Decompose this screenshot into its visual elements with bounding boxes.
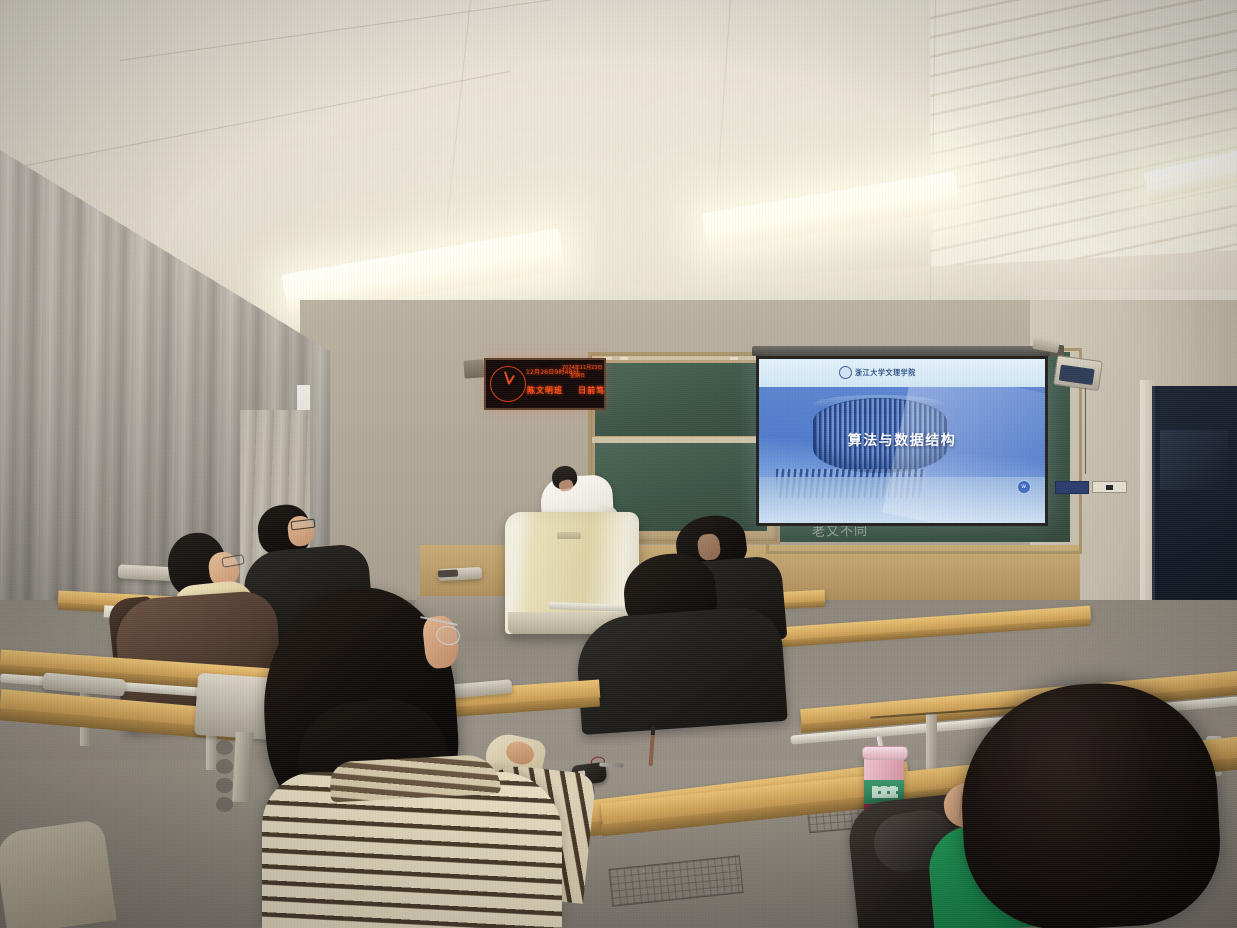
led-message-text: 陈文明班 日前笃行	[527, 385, 606, 396]
chalk-piece	[730, 357, 738, 360]
blackboard-panel-upper	[595, 363, 767, 436]
led-weekday-text: 星期日	[570, 372, 585, 379]
projector-screen-housing	[752, 346, 1062, 356]
led-date-text: 2024年11月23日	[562, 364, 602, 371]
speaker-icon	[463, 359, 484, 378]
university-seal-icon	[839, 366, 852, 379]
slide-illustration: w	[759, 387, 1045, 523]
cup-lid	[862, 746, 908, 760]
slide-title: 算法与数据结构	[759, 430, 1045, 450]
pedestal-hole	[216, 740, 233, 755]
desk-leg	[926, 714, 937, 776]
pedestal-hole	[216, 778, 233, 793]
analog-clock-icon	[490, 366, 526, 402]
chalk-tray	[592, 356, 770, 360]
slide-diagonal-highlight	[883, 387, 1045, 523]
slide-canvas: w 浙江大学文理学院 算法与数据结构	[759, 359, 1045, 523]
student-legs	[0, 819, 117, 928]
led-clock-sign: 12月26日9时48分 2024年11月23日 星期日 陈文明班 日前笃行	[484, 358, 606, 410]
panel-indicator-icon	[1106, 485, 1113, 490]
blue-wall-label	[1055, 481, 1089, 494]
podium-nameplate	[557, 532, 581, 539]
pedestal-hole	[216, 759, 233, 774]
classroom-photo: 老又不同 w 浙江大学文理学院 算法与数据结构 12月26日9时48分 2024	[0, 0, 1237, 928]
slide-logo-label: 浙江大学文理学院	[855, 368, 916, 379]
wall-speaker	[1053, 355, 1103, 391]
av-control-panel[interactable]	[1092, 481, 1127, 493]
slide-university-logo: 浙江大学文理学院	[839, 365, 971, 381]
speaker-cable	[1085, 388, 1086, 474]
speaker-grille-icon	[1059, 365, 1095, 386]
pedestal-hole	[216, 797, 233, 812]
projector-screen[interactable]: w 浙江大学文理学院 算法与数据结构	[756, 356, 1048, 526]
desk-object	[438, 569, 458, 577]
led-message-left: 陈文明班	[527, 386, 563, 395]
chalk-piece	[620, 357, 628, 360]
chair-pedestal-holes	[216, 740, 238, 806]
cup-brand-logo-icon	[872, 786, 898, 798]
led-message-right: 日前笃行	[578, 386, 606, 395]
student-torso	[574, 605, 788, 735]
doorway-reflection	[1160, 430, 1228, 490]
